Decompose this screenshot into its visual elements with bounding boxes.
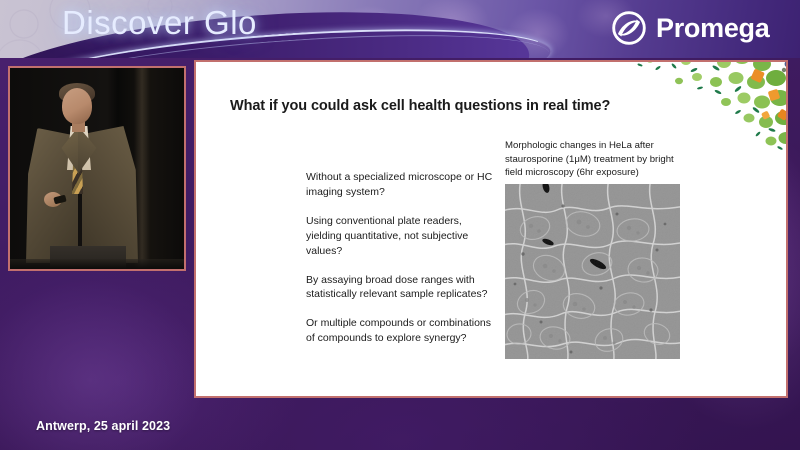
stage-floor [10,259,184,269]
question-item: Or multiple compounds or combinations of… [306,316,496,346]
question-item: By assaying broad dose ranges with stati… [306,273,496,303]
location-date-label: Antwerp, 25 april 2023 [36,419,170,433]
presentation-slide: What if you could ask cell health questi… [194,60,788,398]
slide-title: What if you could ask cell health questi… [230,98,610,114]
speaker-head [62,88,92,124]
question-list: Without a specialized microscope or HC i… [306,170,496,346]
event-title: Discover Glo [62,4,257,42]
question-item: Without a specialized microscope or HC i… [306,170,496,200]
micrograph-caption: Morphologic changes in HeLa after stauro… [505,139,690,180]
brightfield-cells-illustration [505,184,680,359]
speaker-video-thumbnail[interactable] [8,66,186,271]
promega-logo: Promega [612,11,769,45]
promega-swirl-icon [612,11,646,45]
header-banner: Discover Glo Promega [0,0,800,58]
question-item: Using conventional plate readers, yieldi… [306,214,496,259]
promega-wordmark: Promega [656,15,769,42]
presentation-screenshot: Discover Glo Promega [0,0,800,450]
micrograph-image [505,184,680,359]
